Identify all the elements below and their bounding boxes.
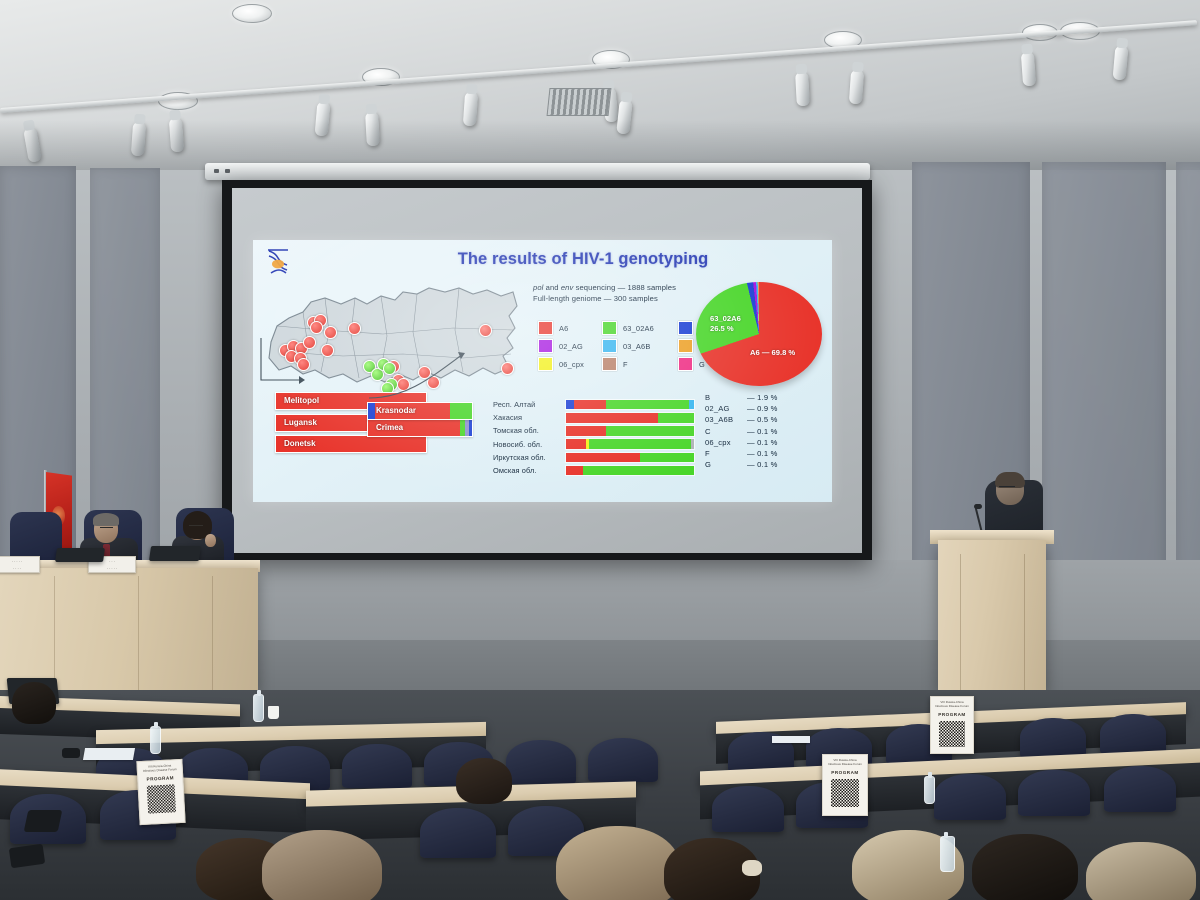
spotlight [1021, 52, 1036, 87]
city-label: Crimea [376, 420, 403, 436]
lectern [938, 540, 1046, 690]
spotlight [1113, 45, 1129, 80]
program-sign-title: PROGRAM [831, 770, 859, 775]
percent-value: — 0.1 % [747, 459, 778, 470]
screen-roller-housing [205, 163, 870, 180]
bar-segment-A6 [566, 426, 606, 436]
subtitle-seq: sequencing — 1888 samples [573, 283, 676, 292]
audience-chair [712, 786, 784, 832]
dna-helix-logo [265, 248, 291, 276]
legend-column: 63_02A603_A6BF [602, 320, 654, 374]
map-pin-red [348, 322, 361, 335]
percent-row: C— 0.1 % [705, 426, 778, 437]
legend-swatch [538, 339, 553, 353]
audience-chair [1018, 770, 1090, 816]
audience-head [12, 682, 56, 724]
water-bottle [150, 726, 161, 754]
presentation-slide: The results of HIV-1 genotyping pol and … [253, 240, 832, 502]
bar-segment-63_02A6 [606, 426, 694, 436]
program-sign-line2: Infectious Disease Forum [139, 768, 180, 774]
legend-swatch [538, 321, 553, 335]
legend-item: 06_cpx [538, 356, 584, 372]
bar-segment-B [566, 400, 574, 410]
mobile-phone [24, 810, 63, 832]
legend-swatch [678, 321, 693, 335]
water-bottle [940, 836, 955, 872]
audience-chair [342, 744, 412, 788]
legend-label: 03_A6B [623, 342, 651, 351]
nameplate-right-line2: · · · · · [89, 564, 135, 571]
legend-swatch [602, 339, 617, 353]
panel-laptop [55, 548, 105, 562]
program-sign-line2: Infectious Disease Forum [932, 705, 971, 709]
region-bar-row: Иркутская обл. [493, 451, 708, 464]
subtype-percent-list: B— 1.9 %02_AG— 0.9 %03_A6B— 0.5 %C— 0.1 … [705, 392, 778, 470]
callout-arrows [257, 336, 507, 406]
city-label: Lugansk [284, 415, 317, 431]
percent-value: — 0.1 % [747, 426, 778, 437]
water-bottle [924, 776, 935, 804]
program-sign: VIII Russia-China Infectious Disease For… [930, 696, 974, 754]
bar-segment-A6 [566, 466, 583, 476]
subtitle-line2: Full-length geniome — 300 samples [533, 293, 676, 304]
bar-segment-63_02A6 [658, 413, 694, 423]
region-stacked-bar [565, 412, 695, 424]
region-bar-row: Томская обл. [493, 424, 708, 437]
percent-value: — 1.9 % [747, 392, 778, 403]
bar-segment-A6 [566, 453, 640, 463]
percent-key: B [705, 392, 747, 403]
legend-label: F [623, 360, 628, 369]
ceiling-vent [547, 88, 612, 116]
region-stacked-bar [565, 438, 695, 450]
program-sign-line2: Infectious Disease Forum [824, 763, 865, 767]
region-label: Омская обл. [493, 466, 565, 475]
bar-segment-A6 [566, 439, 586, 449]
bar-segment-A6 [566, 413, 658, 423]
mobile-phone [62, 748, 80, 758]
percent-value: — 0.1 % [747, 448, 778, 459]
acoustic-panel [1042, 162, 1166, 582]
audience-chair [420, 808, 496, 858]
percent-value: — 0.5 % [747, 414, 778, 425]
audience-chair [934, 774, 1006, 820]
region-bar-row: Респ. Алтай [493, 398, 708, 411]
region-stacked-bars: Респ. АлтайХакасияТомская обл.Новосиб. о… [493, 398, 708, 477]
audience-chair [1100, 714, 1166, 754]
mobile-phone [9, 844, 45, 869]
city-bar-crimea: Crimea [367, 419, 473, 437]
water-bottle [253, 694, 264, 722]
subtitle-and: and [543, 283, 560, 292]
microphone-head [974, 504, 982, 509]
slide-subtitle: pol and env sequencing — 1888 samples Fu… [533, 282, 676, 304]
percent-row: B— 1.9 % [705, 392, 778, 403]
region-label: Новосиб. обл. [493, 440, 565, 449]
head-table [0, 568, 258, 690]
percent-value: — 0.1 % [747, 437, 778, 448]
legend-item: 02_AG [538, 338, 584, 354]
qr-code [830, 778, 860, 808]
city-bar-donetsk: Donetsk [275, 435, 427, 453]
region-label: Иркутская обл. [493, 453, 565, 462]
audience-head [556, 826, 680, 900]
qr-code [146, 783, 178, 815]
region-stacked-bar [565, 425, 695, 437]
subtitle-pol: pol [533, 283, 543, 292]
lecture-hall-scene: The results of HIV-1 genotyping pol and … [0, 0, 1200, 900]
bar-segment-A6 [574, 400, 606, 410]
presenter-glasses [999, 486, 1015, 490]
city-bar-segment [469, 420, 472, 436]
nameplate-left: · · · · · · · · · [0, 556, 40, 573]
pie-slices [696, 282, 822, 386]
region-stacked-bar [565, 465, 695, 477]
legend-swatch [678, 339, 693, 353]
spotlight [795, 72, 810, 107]
percent-row: 02_AG— 0.9 % [705, 403, 778, 414]
acoustic-panel [1176, 162, 1200, 582]
qr-code [938, 720, 966, 748]
audience-head [456, 758, 512, 804]
percent-key: F [705, 448, 747, 459]
legend-label: 63_02A6 [623, 324, 654, 333]
program-sign: VIII Russia-China Infectious Disease For… [822, 754, 868, 816]
audience-chair [1104, 766, 1176, 812]
region-stacked-bar [565, 399, 695, 411]
subtype-pie-chart: A6 — 69.8 % 63_02A626.5 % [696, 282, 822, 394]
bar-segment-F [691, 439, 694, 449]
percent-row: 03_A6B— 0.5 % [705, 414, 778, 425]
legend-item: A6 [538, 320, 584, 336]
region-bar-row: Омская обл. [493, 464, 708, 477]
percent-key: C [705, 426, 747, 437]
city-label: Donetsk [284, 436, 316, 452]
legend-swatch [602, 357, 617, 371]
audience-head [1086, 842, 1196, 900]
downlight [232, 4, 272, 23]
pie-label-63-02a6: 63_02A626.5 % [710, 314, 741, 334]
program-sign-title: PROGRAM [938, 712, 966, 717]
bar-segment-63_02A6 [640, 453, 694, 463]
spotlight [849, 70, 864, 105]
audience-area: VIII Russia-China Infectious Disease For… [0, 690, 1200, 900]
legend-swatch [602, 321, 617, 335]
audience-chair [506, 740, 576, 784]
percent-key: 03_A6B [705, 414, 747, 425]
bar-segment-63_02A6 [606, 400, 689, 410]
desk-papers [83, 748, 135, 760]
map-pin-red [310, 321, 323, 334]
paper-cup [268, 706, 279, 719]
percent-row: F— 0.1 % [705, 448, 778, 459]
percent-row: 06_cpx— 0.1 % [705, 437, 778, 448]
nameplate-left-line2: · · · · [0, 564, 39, 571]
nameplate-left-line1: · · · · · [0, 557, 39, 564]
region-stacked-bar [565, 452, 695, 464]
region-label: Хакасия [493, 413, 565, 422]
bar-segment-63_02A6 [583, 466, 694, 476]
legend-column: A602_AG06_cpx [538, 320, 584, 374]
percent-value: — 0.9 % [747, 403, 778, 414]
program-sign: VIII Russia-China Infectious Disease For… [136, 759, 185, 825]
region-bar-row: Хакасия [493, 411, 708, 424]
audience-head [262, 830, 382, 900]
pie-label-a6: A6 — 69.8 % [750, 348, 795, 358]
subtitle-env: env [561, 283, 574, 292]
program-sign-title: PROGRAM [146, 775, 174, 781]
region-label: Томская обл. [493, 426, 565, 435]
audience-head [972, 834, 1078, 900]
legend-label: 06_cpx [559, 360, 584, 369]
bar-segment-03_A6B [689, 400, 694, 410]
desk-papers [772, 736, 810, 743]
legend-item: F [602, 356, 654, 372]
panel-laptop [149, 546, 201, 561]
ceiling [0, 0, 1200, 185]
audience-chair [1020, 718, 1086, 758]
audience-chair [588, 738, 658, 782]
legend-item: 03_A6B [602, 338, 654, 354]
percent-row: G— 0.1 % [705, 459, 778, 470]
legend-label: A6 [559, 324, 568, 333]
legend-item: 63_02A6 [602, 320, 654, 336]
legend-swatch [538, 357, 553, 371]
percent-key: 02_AG [705, 403, 747, 414]
region-bar-row: Новосиб. обл. [493, 438, 708, 451]
slide-title: The results of HIV-1 genotyping [373, 250, 793, 269]
percent-key: G [705, 459, 747, 470]
paper-cup [742, 860, 762, 876]
legend-swatch [678, 357, 693, 371]
legend-label: 02_AG [559, 342, 583, 351]
percent-key: 06_cpx [705, 437, 747, 448]
bar-segment-63_02A6 [589, 439, 691, 449]
